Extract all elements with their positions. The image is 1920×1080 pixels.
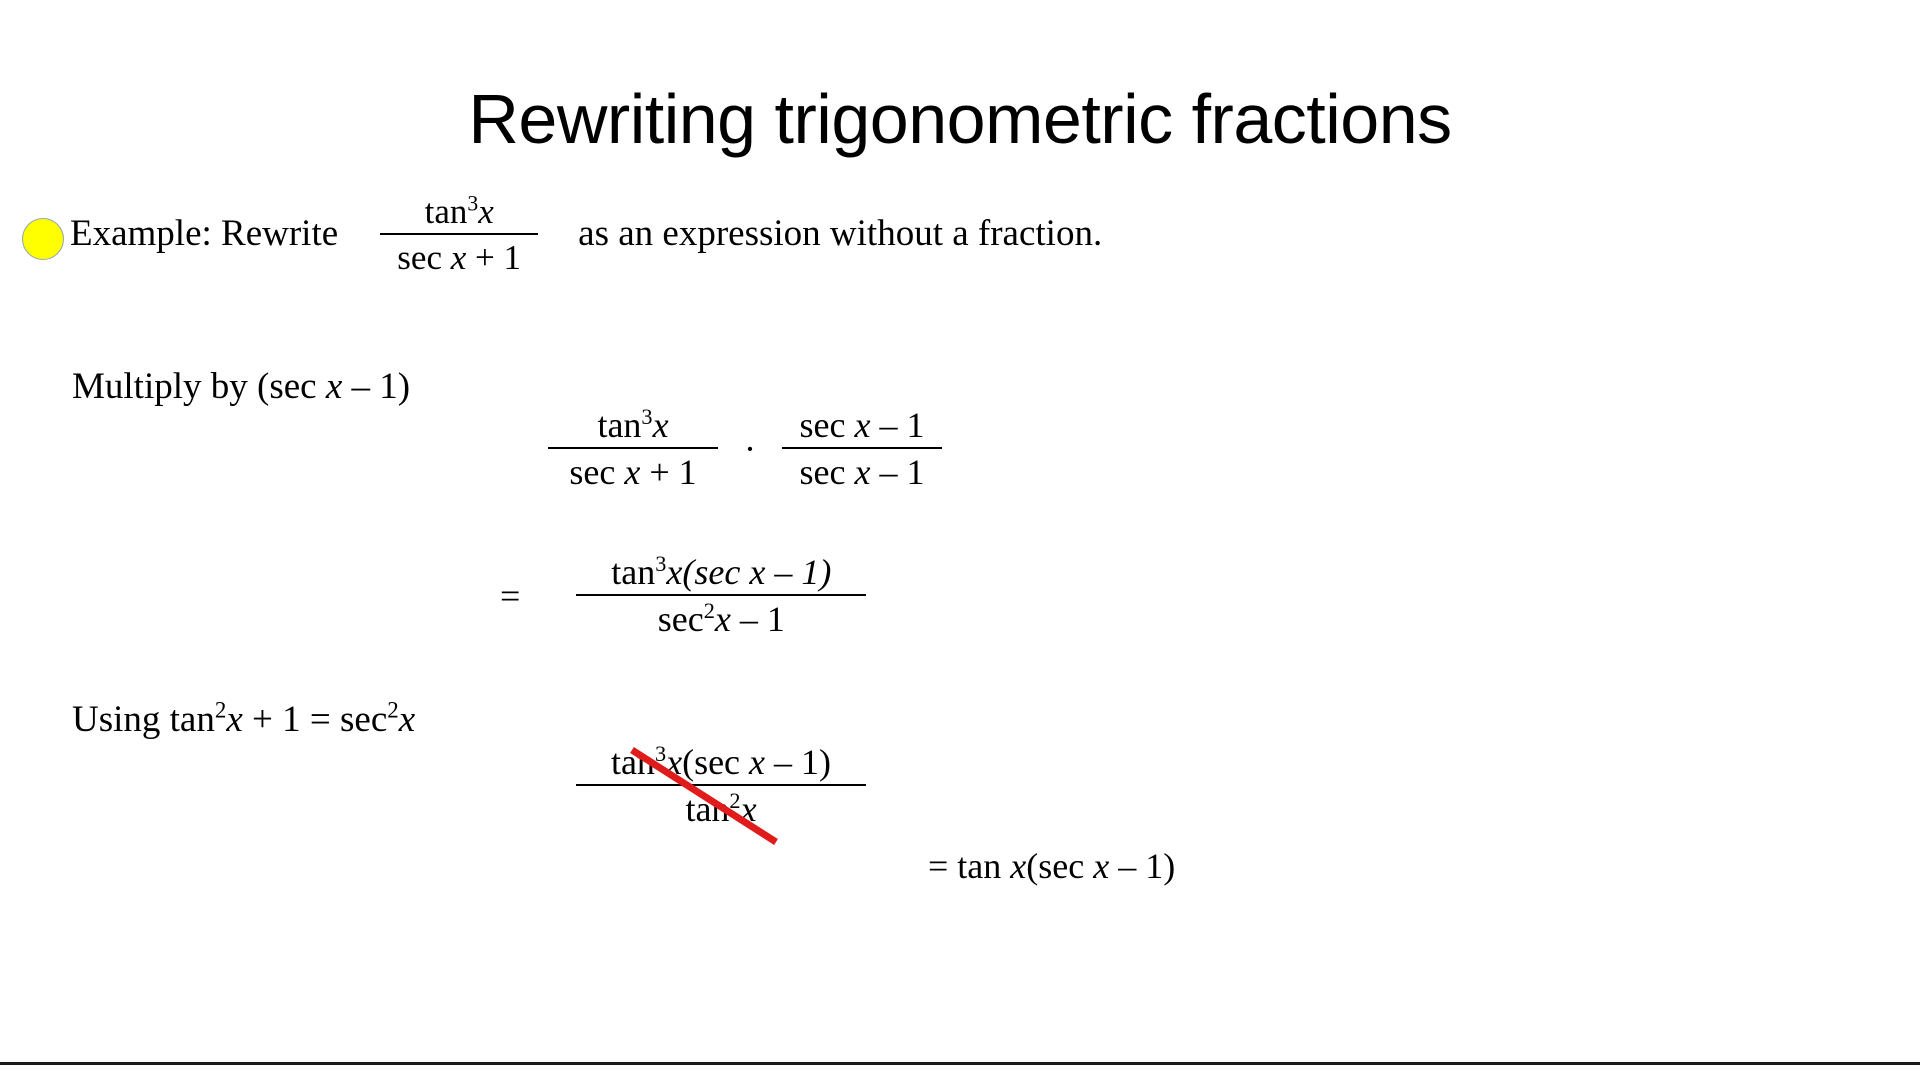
product-expression: tan3x sec x + 1 · sec x – 1 sec x – 1 <box>548 405 942 493</box>
simplified-den-exponent: 2 <box>729 788 740 813</box>
simplified-expression: tan3x(sec x – 1) tan2x <box>576 742 866 830</box>
example-num-base: tan <box>425 192 468 231</box>
example-fraction-denominator: sec x + 1 <box>380 235 538 277</box>
identity-exponent-2: 2 <box>387 698 398 723</box>
simplified-num-base: tan <box>611 742 655 782</box>
simplified-den-base: tan <box>685 789 729 829</box>
product-right-denominator: sec x – 1 <box>782 449 942 492</box>
combined-num-rest: x(sec x – 1) <box>666 552 831 592</box>
combined-denominator: sec2x – 1 <box>576 596 866 639</box>
multiplication-dot: · <box>744 428 756 470</box>
final-answer: = tan x(sec x – 1) <box>928 845 1175 887</box>
example-num-exponent: 3 <box>467 191 478 215</box>
example-label: Example: Rewrite <box>70 212 338 255</box>
identity-exponent-1: 2 <box>215 698 226 723</box>
combined-den-base: sec <box>658 599 704 639</box>
example-fraction-numerator: tan3x <box>380 192 538 233</box>
bullet-circle-icon <box>22 218 64 260</box>
product-left-num-exponent: 3 <box>641 404 652 429</box>
example-fraction: tan3x sec x + 1 <box>380 192 538 277</box>
example-num-variable: x <box>478 192 494 231</box>
product-right-fraction: sec x – 1 sec x – 1 <box>782 405 942 493</box>
bottom-divider <box>0 1062 1920 1065</box>
identity-prefix: Using tan <box>72 699 215 740</box>
product-left-denominator: sec x + 1 <box>548 449 718 492</box>
combined-den-rest: x – 1 <box>715 599 785 639</box>
slide-canvas: Rewriting trigonometric fractions Exampl… <box>0 0 1920 1080</box>
simplified-num-exponent: 3 <box>655 741 666 766</box>
simplified-fraction: tan3x(sec x – 1) tan2x <box>576 742 866 830</box>
combined-num-base: tan <box>611 552 655 592</box>
product-left-num-variable: x <box>653 405 669 445</box>
simplified-den-rest: x <box>741 789 757 829</box>
combined-fraction: tan3x(sec x – 1) sec2x – 1 <box>576 552 866 640</box>
page-title: Rewriting trigonometric fractions <box>0 84 1920 154</box>
simplified-numerator: tan3x(sec x – 1) <box>576 742 866 784</box>
multiply-step-label: Multiply by (sec x – 1) <box>72 365 410 408</box>
combined-expression: = tan3x(sec x – 1) sec2x – 1 <box>500 552 866 640</box>
simplified-num-rest: x(sec x – 1) <box>666 742 831 782</box>
combined-num-exponent: 3 <box>655 551 666 576</box>
example-tail-text: as an expression without a fraction. <box>578 212 1102 255</box>
product-left-fraction: tan3x sec x + 1 <box>548 405 718 493</box>
combined-numerator: tan3x(sec x – 1) <box>576 552 866 594</box>
simplified-denominator: tan2x <box>576 786 866 829</box>
identity-label: Using tan2x + 1 = sec2x <box>72 698 415 741</box>
equals-sign-1: = <box>500 575 520 617</box>
combined-den-exponent: 2 <box>704 598 715 623</box>
product-left-numerator: tan3x <box>548 405 718 447</box>
example-line: Example: Rewrite tan3x sec x + 1 as an e… <box>22 212 1102 277</box>
product-left-num-base: tan <box>597 405 641 445</box>
product-right-numerator: sec x – 1 <box>782 405 942 447</box>
